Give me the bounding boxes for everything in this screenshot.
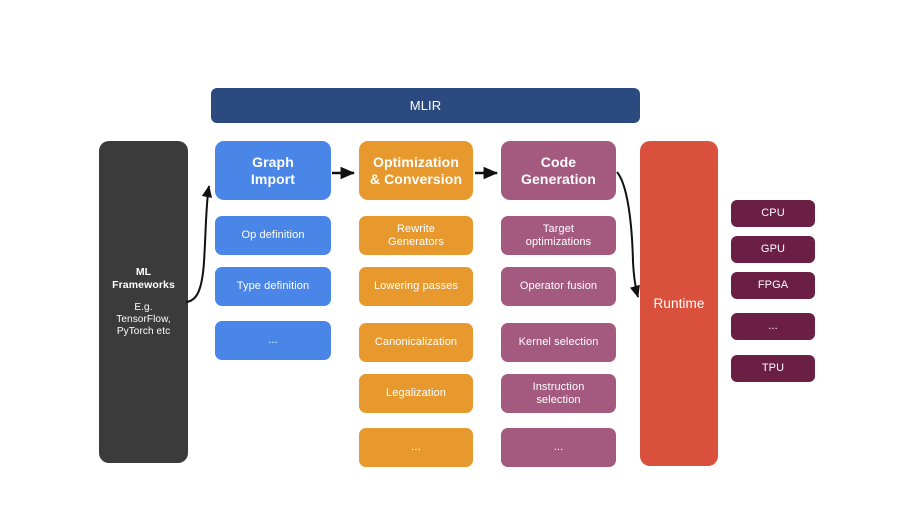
item-rewrite-generators: Rewrite Generators — [359, 216, 473, 255]
runtime-box: Runtime — [640, 141, 718, 466]
item-canonicalization: Canonicalization — [359, 323, 473, 362]
stage-graph-import: Graph Import — [215, 141, 331, 200]
stage-code-generation: Code Generation — [501, 141, 616, 200]
hardware-target-cpu: CPU — [731, 200, 815, 227]
ml-frameworks-title: ML Frameworks — [112, 266, 175, 291]
item-lowering-passes: Lowering passes — [359, 267, 473, 306]
ml-frameworks-subtitle: E.g. TensorFlow, PyTorch etc — [116, 302, 170, 337]
diagram-canvas: MLIR ML Frameworks E.g. TensorFlow, PyTo… — [0, 0, 900, 505]
stage-optimization-conversion: Optimization & Conversion — [359, 141, 473, 200]
hardware-target-tpu: TPU — [731, 355, 815, 382]
item-legalization: Legalization — [359, 374, 473, 413]
hardware-target-fpga: FPGA — [731, 272, 815, 299]
mlir-title-bar: MLIR — [211, 88, 640, 123]
item-optimization-more: ... — [359, 428, 473, 467]
arrow-frameworks-to-graph-import — [186, 186, 209, 302]
item-graph-import-more: ... — [215, 321, 331, 360]
hardware-target-more: ... — [731, 313, 815, 340]
item-op-definition: Op definition — [215, 216, 331, 255]
item-type-definition: Type definition — [215, 267, 331, 306]
item-target-optimizations: Target optimizations — [501, 216, 616, 255]
item-instruction-selection: Instruction selection — [501, 374, 616, 413]
item-kernel-selection: Kernel selection — [501, 323, 616, 362]
item-code-generation-more: ... — [501, 428, 616, 467]
item-operator-fusion: Operator fusion — [501, 267, 616, 306]
arrow-code-generation-to-runtime — [617, 172, 638, 297]
ml-frameworks-box: ML Frameworks E.g. TensorFlow, PyTorch e… — [99, 141, 188, 463]
hardware-target-gpu: GPU — [731, 236, 815, 263]
